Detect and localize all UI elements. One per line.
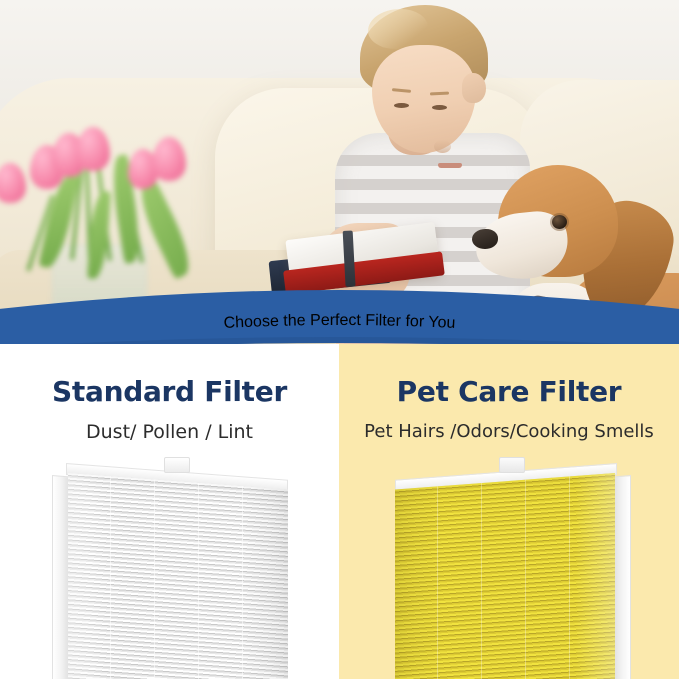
ear: [462, 73, 486, 103]
eye: [394, 103, 409, 108]
filter-pleated-media: [395, 473, 615, 679]
tulip-bloom: [0, 163, 26, 203]
eyebrow: [430, 92, 449, 96]
product-infographic: Choose the Perfect Filter for You Standa…: [0, 0, 679, 679]
tulip-bloom: [76, 127, 110, 171]
dog-eye: [552, 215, 567, 229]
comparison-panels: Standard Filter Dust/ Pollen / Lint: [0, 344, 679, 679]
standard-filter-title: Standard Filter: [0, 375, 339, 408]
pet-care-filter-title: Pet Care Filter: [339, 375, 679, 408]
nose: [434, 140, 451, 153]
panel-standard-filter: Standard Filter Dust/ Pollen / Lint: [0, 344, 339, 679]
panel-pet-care-filter: Pet Care Filter Pet Hairs /Odors/Cooking…: [339, 344, 679, 679]
pet-care-filter-image: [395, 461, 631, 679]
dog-nose: [472, 229, 498, 249]
filter-pleated-media: [68, 473, 288, 679]
filter-pull-tab: [164, 457, 190, 473]
pet-care-filter-subtitle: Pet Hairs /Odors/Cooking Smells: [339, 421, 679, 442]
mouth: [438, 163, 462, 168]
book-spine: [343, 230, 356, 286]
tulip-bloom: [152, 137, 186, 181]
eye: [432, 105, 447, 110]
filter-pull-tab: [499, 457, 525, 473]
standard-filter-image: [52, 461, 288, 679]
eyebrow: [392, 88, 411, 93]
standard-filter-subtitle: Dust/ Pollen / Lint: [0, 421, 339, 443]
